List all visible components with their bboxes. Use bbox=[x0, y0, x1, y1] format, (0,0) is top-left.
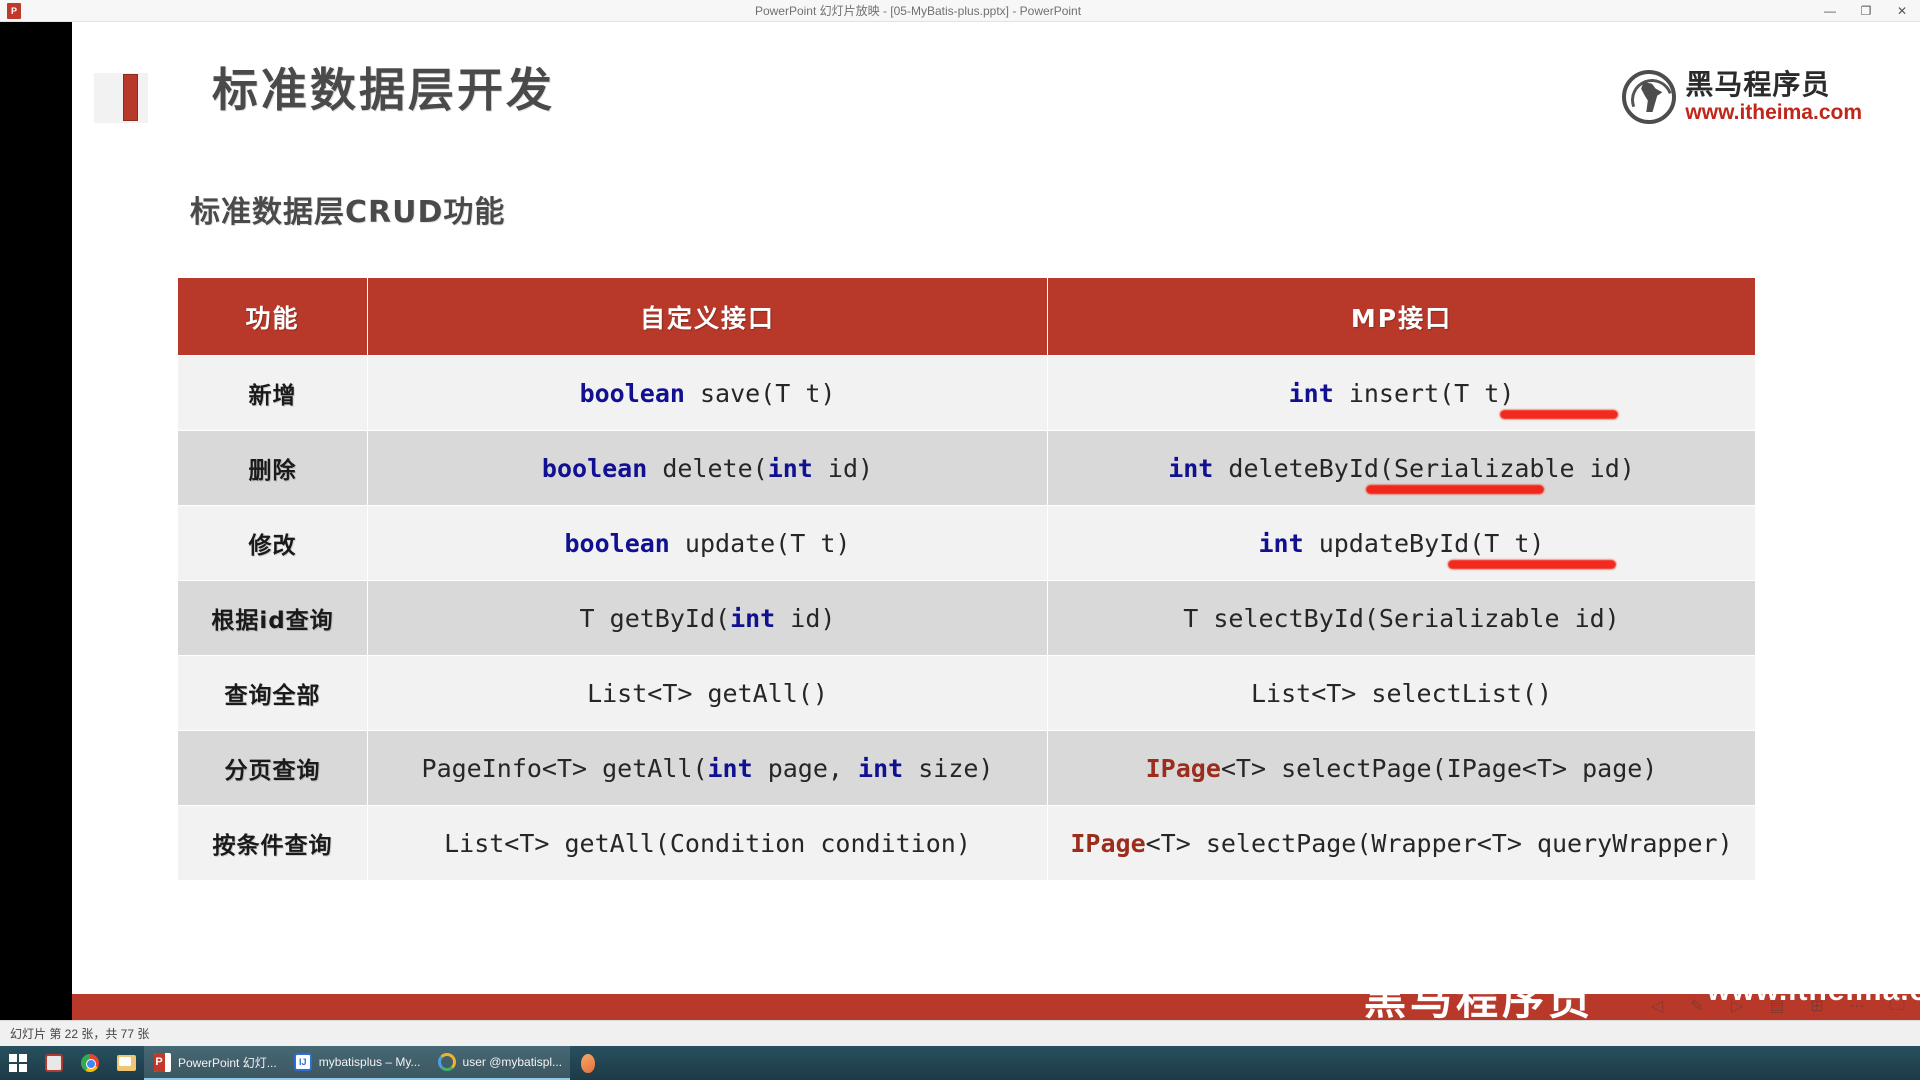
table-row: 新增boolean save(T t)int insert(T t) bbox=[178, 356, 1756, 431]
status-bar: 幻灯片 第 22 张，共 77 张 bbox=[0, 1020, 1920, 1046]
taskbar-item-label: user @mybatispl... bbox=[463, 1055, 563, 1069]
table-row: 按条件查询List<T> getAll(Condition condition)… bbox=[178, 806, 1756, 881]
intellij-idea-icon: IJ bbox=[293, 1052, 313, 1072]
desktop-root: P PowerPoint 幻灯片放映 - [05-MyBatis-plus.pp… bbox=[0, 0, 1920, 1080]
cell-mp-interface: IPage<T> selectPage(Wrapper<T> queryWrap… bbox=[1048, 806, 1756, 881]
taskbar-item-label: mybatisplus – My... bbox=[319, 1055, 421, 1069]
brand-name: 黑马程序员 bbox=[1685, 71, 1862, 99]
title-accent-background bbox=[94, 73, 148, 123]
presenter-view-button[interactable]: 🖵 bbox=[1884, 994, 1910, 1018]
title-accent-bar bbox=[123, 74, 138, 121]
table-header-row: 功能 自定义接口 MP接口 bbox=[178, 278, 1756, 356]
cell-mp-interface: T selectById(Serializable id) bbox=[1048, 581, 1756, 656]
cell-mp-interface: int deleteById(Serializable id) bbox=[1048, 431, 1756, 506]
brand-url: www.itheima.com bbox=[1685, 102, 1862, 123]
column-header-mp-interface: MP接口 bbox=[1048, 278, 1756, 356]
cell-mp-interface: int updateById(T t) bbox=[1048, 506, 1756, 581]
taskbar-item-file-explorer[interactable] bbox=[108, 1046, 144, 1080]
taskbar-item-wechat[interactable] bbox=[36, 1046, 72, 1080]
table-row: 删除boolean delete(int id)int deleteById(S… bbox=[178, 431, 1756, 506]
page-title: 标准数据层开发 bbox=[212, 54, 555, 120]
cell-function: 修改 bbox=[178, 506, 368, 581]
slideshow-controls[interactable]: ◁✎▷▤⊞⋯🖵 bbox=[1644, 994, 1910, 1018]
horse-head-logo-icon bbox=[1622, 70, 1676, 124]
app-icon bbox=[578, 1053, 598, 1073]
chrome-icon bbox=[80, 1053, 100, 1073]
zoom-button[interactable]: ⊞ bbox=[1804, 994, 1830, 1018]
cell-function: 分页查询 bbox=[178, 731, 368, 806]
column-header-function: 功能 bbox=[178, 278, 368, 356]
taskbar-item-intellij-idea[interactable]: IJmybatisplus – My... bbox=[285, 1046, 429, 1080]
windows-taskbar[interactable]: PowerPoint 幻灯...IJmybatisplus – My...use… bbox=[0, 1046, 1920, 1080]
window-controls: — ❐ ✕ bbox=[1812, 0, 1920, 22]
taskbar-item-app[interactable] bbox=[570, 1046, 606, 1080]
slide-canvas[interactable]: 标准数据层开发 黑马程序员 www.itheima.com 标准数据层CRUD功… bbox=[72, 22, 1920, 1020]
cell-mp-interface: int insert(T t) bbox=[1048, 356, 1756, 431]
file-explorer-icon bbox=[116, 1053, 136, 1073]
minimize-button[interactable]: — bbox=[1812, 0, 1848, 22]
window-title: PowerPoint 幻灯片放映 - [05-MyBatis-plus.pptx… bbox=[24, 2, 1812, 19]
cell-mp-interface: List<T> selectList() bbox=[1048, 656, 1756, 731]
taskbar-item-start-windows[interactable] bbox=[0, 1046, 36, 1080]
slide-subtitle: 标准数据层CRUD功能 bbox=[190, 187, 505, 231]
cell-custom-interface: boolean save(T t) bbox=[368, 356, 1048, 431]
brand-logo: 黑马程序员 www.itheima.com bbox=[1622, 70, 1862, 124]
table-body: 新增boolean save(T t)int insert(T t)删除bool… bbox=[178, 356, 1756, 881]
footer-brand-name: 黑马程序员 bbox=[1364, 994, 1594, 1020]
taskbar-item-chrome[interactable] bbox=[72, 1046, 108, 1080]
powerpoint-icon bbox=[152, 1052, 172, 1072]
cell-function: 新增 bbox=[178, 356, 368, 431]
cell-function: 按条件查询 bbox=[178, 806, 368, 881]
table-row: 分页查询PageInfo<T> getAll(int page, int siz… bbox=[178, 731, 1756, 806]
table-row: 修改boolean update(T t)int updateById(T t) bbox=[178, 506, 1756, 581]
table-row: 查询全部List<T> getAll()List<T> selectList() bbox=[178, 656, 1756, 731]
slide-counter: 幻灯片 第 22 张，共 77 张 bbox=[10, 1025, 149, 1042]
pen-tools-button[interactable]: ✎ bbox=[1684, 994, 1710, 1018]
slide-footer-band: 黑马程序员 www.itheima.com bbox=[72, 994, 1920, 1020]
powerpoint-icon: P bbox=[4, 1, 24, 21]
cell-function: 根据id查询 bbox=[178, 581, 368, 656]
cell-function: 删除 bbox=[178, 431, 368, 506]
window-title-bar: P PowerPoint 幻灯片放映 - [05-MyBatis-plus.pp… bbox=[0, 0, 1920, 22]
cell-custom-interface: boolean delete(int id) bbox=[368, 431, 1048, 506]
column-header-custom-interface: 自定义接口 bbox=[368, 278, 1048, 356]
slideshow-stage[interactable]: 标准数据层开发 黑马程序员 www.itheima.com 标准数据层CRUD功… bbox=[0, 22, 1920, 1020]
taskbar-item-powerpoint[interactable]: PowerPoint 幻灯... bbox=[144, 1046, 285, 1080]
ink-annotation bbox=[1500, 410, 1618, 419]
cell-custom-interface: T getById(int id) bbox=[368, 581, 1048, 656]
previous-slide-button[interactable]: ◁ bbox=[1644, 994, 1670, 1018]
more-options-button[interactable]: ⋯ bbox=[1844, 994, 1870, 1018]
ink-annotation bbox=[1366, 485, 1544, 494]
taskbar-item-label: PowerPoint 幻灯... bbox=[178, 1054, 277, 1071]
cell-custom-interface: boolean update(T t) bbox=[368, 506, 1048, 581]
restore-button[interactable]: ❐ bbox=[1848, 0, 1884, 22]
next-slide-button[interactable]: ▷ bbox=[1724, 994, 1750, 1018]
all-slides-button[interactable]: ▤ bbox=[1764, 994, 1790, 1018]
taskbar-item-navicat[interactable]: user @mybatispl... bbox=[429, 1046, 571, 1080]
close-button[interactable]: ✕ bbox=[1884, 0, 1920, 22]
cell-custom-interface: List<T> getAll() bbox=[368, 656, 1048, 731]
table-row: 根据id查询T getById(int id)T selectById(Seri… bbox=[178, 581, 1756, 656]
navicat-icon bbox=[437, 1052, 457, 1072]
cell-mp-interface: IPage<T> selectPage(IPage<T> page) bbox=[1048, 731, 1756, 806]
cell-custom-interface: List<T> getAll(Condition condition) bbox=[368, 806, 1048, 881]
brand-logo-text: 黑马程序员 www.itheima.com bbox=[1685, 71, 1862, 123]
table-header: 功能 自定义接口 MP接口 bbox=[178, 278, 1756, 356]
cell-custom-interface: PageInfo<T> getAll(int page, int size) bbox=[368, 731, 1048, 806]
crud-comparison-table: 功能 自定义接口 MP接口 新增boolean save(T t)int ins… bbox=[177, 277, 1756, 881]
ink-annotation bbox=[1448, 560, 1616, 569]
start-windows-icon bbox=[8, 1053, 28, 1073]
wechat-icon bbox=[44, 1053, 64, 1073]
cell-function: 查询全部 bbox=[178, 656, 368, 731]
